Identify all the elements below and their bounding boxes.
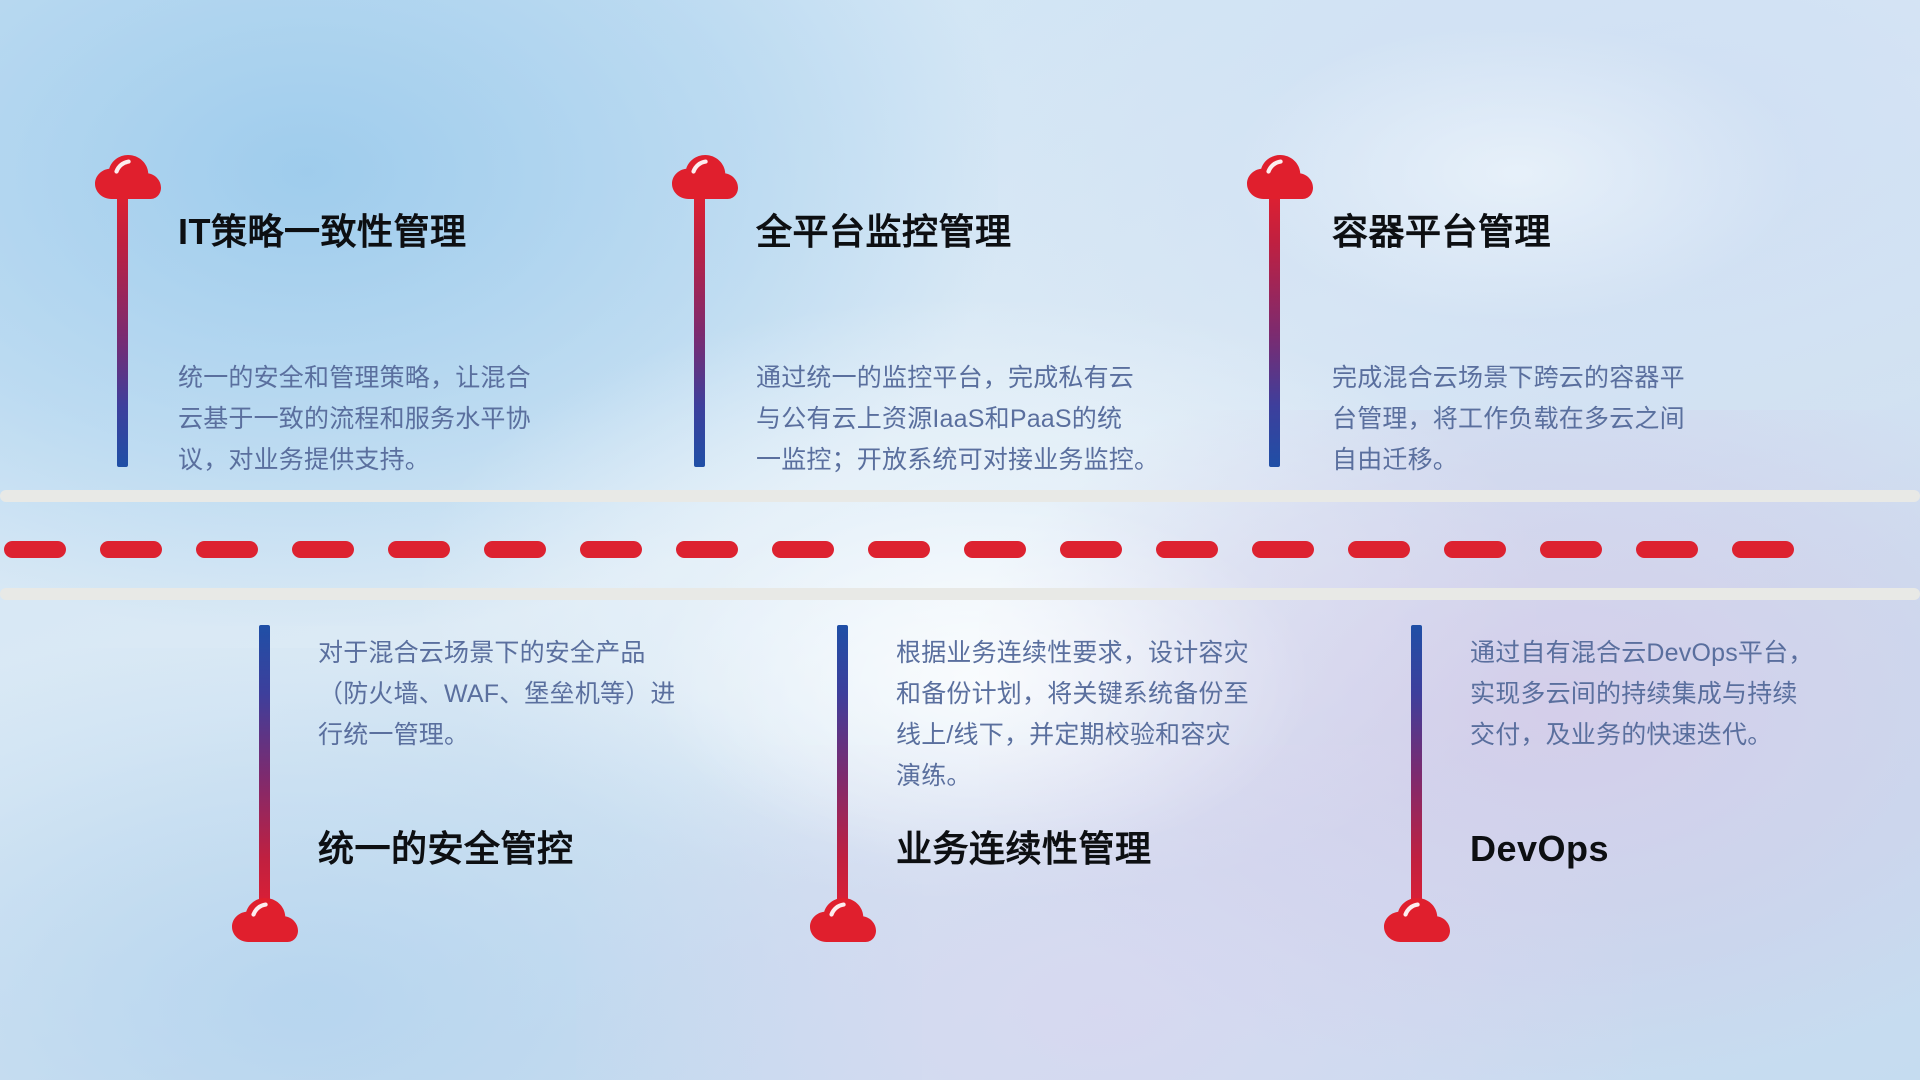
road-dash-segment: [1444, 541, 1506, 558]
cloud-icon: [672, 155, 738, 201]
road-dash-segment: [196, 541, 258, 558]
pin-stem-bottom-1: [259, 625, 270, 910]
pin-body-bottom-2: 根据业务连续性要求，设计容灾 和备份计划，将关键系统备份至 线上/线下，并定期校…: [896, 633, 1326, 797]
road-dash-segment: [1636, 541, 1698, 558]
pin-body-bottom-3: 通过自有混合云DevOps平台， 实现多云间的持续集成与持续 交付，及业务的快速…: [1470, 633, 1890, 756]
road-dash-segment: [676, 541, 738, 558]
cloud-icon: [1247, 155, 1313, 201]
road-edge-bottom: [0, 588, 1920, 600]
road-dash-segment: [1348, 541, 1410, 558]
road-dash-segment: [484, 541, 546, 558]
road-dash-segment: [292, 541, 354, 558]
cloud-icon: [95, 155, 161, 201]
pin-title-top-3: 容器平台管理: [1332, 214, 1551, 250]
pin-stem-top-3: [1269, 192, 1280, 467]
pin-title-bottom-3: DevOps: [1470, 831, 1609, 867]
road-dash-segment: [1060, 541, 1122, 558]
road-dash-segment: [868, 541, 930, 558]
pin-title-top-1: IT策略一致性管理: [178, 214, 467, 250]
road-dash-segment: [100, 541, 162, 558]
cloud-icon: [810, 898, 876, 944]
road-dash-segment: [1252, 541, 1314, 558]
pin-stem-top-1: [117, 192, 128, 467]
pin-body-bottom-1: 对于混合云场景下的安全产品 （防火墙、WAF、堡垒机等）进 行统一管理。: [318, 633, 738, 756]
road-dash-segment: [1540, 541, 1602, 558]
pin-stem-top-2: [694, 192, 705, 467]
road-dash-segment: [772, 541, 834, 558]
pin-body-top-1: 统一的安全和管理策略，让混合 云基于一致的流程和服务水平协 议，对业务提供支持。: [178, 358, 598, 481]
road-dash-segment: [1156, 541, 1218, 558]
pin-title-top-2: 全平台监控管理: [756, 214, 1012, 250]
pin-body-top-2: 通过统一的监控平台，完成私有云 与公有云上资源IaaS和PaaS的统 一监控；开…: [756, 358, 1206, 481]
road-edge-top: [0, 490, 1920, 502]
road-center-dashes: [0, 541, 1920, 558]
road-dash-segment: [1732, 541, 1794, 558]
cloud-icon: [232, 898, 298, 944]
pin-stem-bottom-2: [837, 625, 848, 910]
infographic-canvas: IT策略一致性管理 统一的安全和管理策略，让混合 云基于一致的流程和服务水平协 …: [0, 0, 1920, 1080]
road-dash-segment: [580, 541, 642, 558]
pin-title-bottom-1: 统一的安全管控: [318, 831, 574, 867]
cloud-icon: [1384, 898, 1450, 944]
pin-body-top-3: 完成混合云场景下跨云的容器平 台管理，将工作负载在多云之间 自由迁移。: [1332, 358, 1762, 481]
background-blob-top-right-light: [1229, 22, 1805, 324]
pin-stem-bottom-3: [1411, 625, 1422, 910]
pin-title-bottom-2: 业务连续性管理: [896, 831, 1152, 867]
road-dash-segment: [4, 541, 66, 558]
road-dash-segment: [388, 541, 450, 558]
road-dash-segment: [964, 541, 1026, 558]
